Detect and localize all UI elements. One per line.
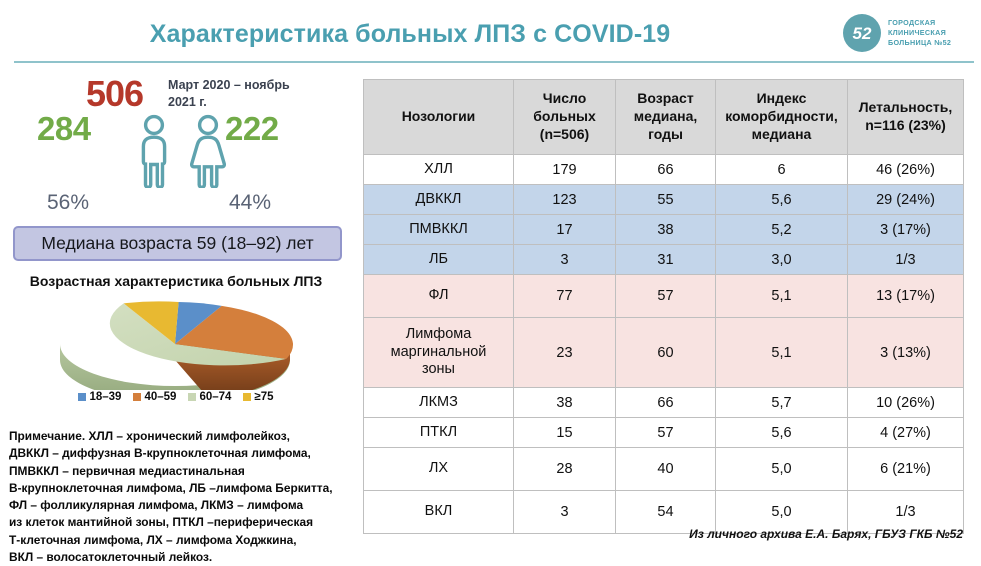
legend-label-0: 18–39 xyxy=(89,391,121,403)
cell-lethality: 3 (13%) xyxy=(848,318,964,388)
table-row: Лимфома маргинальной зоны23605,13 (13%) xyxy=(364,318,964,388)
logo-badge-icon: 52 xyxy=(843,14,881,52)
nosology-table-container: Нозологии Число больных (n=506) Возраст … xyxy=(363,79,963,534)
female-figure-icon xyxy=(183,114,233,193)
cell-comorbidity: 5,7 xyxy=(716,388,848,418)
cell-nosology: ФЛ xyxy=(364,275,514,318)
cell-count: 28 xyxy=(514,448,616,491)
cell-nosology: ЛБ xyxy=(364,245,514,275)
total-patients-value: 506 xyxy=(86,73,143,115)
cell-count: 179 xyxy=(514,155,616,185)
male-figure-icon xyxy=(132,114,176,193)
cell-age-median: 66 xyxy=(616,388,716,418)
table-row: ЛКМЗ38665,710 (26%) xyxy=(364,388,964,418)
cell-lethality: 4 (27%) xyxy=(848,418,964,448)
cell-lethality: 29 (24%) xyxy=(848,185,964,215)
cell-comorbidity: 5,6 xyxy=(716,418,848,448)
legend-label-3: ≥75 xyxy=(254,391,273,403)
column-header-comorbidity: Индекс коморбидности, медиана xyxy=(716,80,848,155)
cell-lethality: 10 (26%) xyxy=(848,388,964,418)
cell-count: 3 xyxy=(514,245,616,275)
abbreviations-note: Примечание. ХЛЛ – хронический лимфолейко… xyxy=(9,428,349,566)
legend-item-40-59: 40–59 xyxy=(133,391,176,403)
cell-nosology: Лимфома маргинальной зоны xyxy=(364,318,514,388)
cell-count: 77 xyxy=(514,275,616,318)
cell-count: 15 xyxy=(514,418,616,448)
cell-count: 23 xyxy=(514,318,616,388)
cell-comorbidity: 6 xyxy=(716,155,848,185)
pie-chart-title: Возрастная характеристика больных ЛПЗ xyxy=(0,273,352,289)
logo-text: ГОРОДСКАЯ КЛИНИЧЕСКАЯ БОЛЬНИЦА №52 xyxy=(888,18,951,49)
table-row: ПТКЛ15575,64 (27%) xyxy=(364,418,964,448)
cell-comorbidity: 5,1 xyxy=(716,275,848,318)
cell-nosology: ПМВККЛ xyxy=(364,215,514,245)
legend-item-75-plus: ≥75 xyxy=(243,391,273,403)
legend-swatch-icon xyxy=(133,393,141,401)
cell-comorbidity: 5,6 xyxy=(716,185,848,215)
table-row: ФЛ77575,113 (17%) xyxy=(364,275,964,318)
cell-count: 123 xyxy=(514,185,616,215)
logo-text-line-3: БОЛЬНИЦА №52 xyxy=(888,38,951,48)
legend-item-60-74: 60–74 xyxy=(188,391,231,403)
column-header-age-median: Возраст медиана, годы xyxy=(616,80,716,155)
median-age-box: Медиана возраста 59 (18–92) лет xyxy=(13,226,342,261)
nosology-table: Нозологии Число больных (n=506) Возраст … xyxy=(363,79,964,534)
cell-comorbidity: 3,0 xyxy=(716,245,848,275)
cell-age-median: 57 xyxy=(616,418,716,448)
female-percent-value: 44% xyxy=(229,191,271,215)
slide-header: Характеристика больных ЛПЗ с COVID-19 52… xyxy=(0,0,981,63)
legend-swatch-icon xyxy=(243,393,251,401)
age-distribution-pie-chart xyxy=(55,298,295,390)
cell-nosology: ПТКЛ xyxy=(364,418,514,448)
legend-label-2: 60–74 xyxy=(199,391,231,403)
cell-age-median: 66 xyxy=(616,155,716,185)
table-row: ЛХ28405,06 (21%) xyxy=(364,448,964,491)
left-summary-panel: 506 Март 2020 – ноябрь 2021 г. 284 222 5… xyxy=(0,66,352,563)
table-row: ЛБ3313,01/3 xyxy=(364,245,964,275)
study-period-label: Март 2020 – ноябрь 2021 г. xyxy=(168,77,298,110)
cell-count: 17 xyxy=(514,215,616,245)
legend-item-18-39: 18–39 xyxy=(78,391,121,403)
cell-age-median: 38 xyxy=(616,215,716,245)
cell-age-median: 55 xyxy=(616,185,716,215)
cell-lethality: 6 (21%) xyxy=(848,448,964,491)
male-percent-value: 56% xyxy=(47,191,89,215)
logo-text-line-1: ГОРОДСКАЯ xyxy=(888,18,951,28)
column-header-count: Число больных (n=506) xyxy=(514,80,616,155)
page-title: Характеристика больных ЛПЗ с COVID-19 xyxy=(0,20,820,49)
cell-nosology: ВКЛ xyxy=(364,491,514,534)
table-head: Нозологии Число больных (n=506) Возраст … xyxy=(364,80,964,155)
cell-nosology: ЛКМЗ xyxy=(364,388,514,418)
cell-age-median: 31 xyxy=(616,245,716,275)
column-header-lethality: Летальность, n=116 (23%) xyxy=(848,80,964,155)
table-row: ПМВККЛ17385,23 (17%) xyxy=(364,215,964,245)
table-body: ХЛЛ17966646 (26%)ДВККЛ123555,629 (24%)ПМ… xyxy=(364,155,964,534)
table-row: ДВККЛ123555,629 (24%) xyxy=(364,185,964,215)
pie-chart-legend: 18–39 40–59 60–74 ≥75 xyxy=(0,391,352,403)
cell-age-median: 57 xyxy=(616,275,716,318)
cell-comorbidity: 5,2 xyxy=(716,215,848,245)
logo-text-line-2: КЛИНИЧЕСКАЯ xyxy=(888,28,951,38)
cell-lethality: 1/3 xyxy=(848,245,964,275)
male-count-value: 284 xyxy=(37,110,91,148)
cell-lethality: 13 (17%) xyxy=(848,275,964,318)
cell-lethality: 3 (17%) xyxy=(848,215,964,245)
source-attribution: Из личного архива Е.А. Барях, ГБУЗ ГКБ №… xyxy=(593,527,963,541)
legend-swatch-icon xyxy=(188,393,196,401)
table-header-row: Нозологии Число больных (n=506) Возраст … xyxy=(364,80,964,155)
cell-nosology: ХЛЛ xyxy=(364,155,514,185)
cell-count: 38 xyxy=(514,388,616,418)
legend-label-1: 40–59 xyxy=(144,391,176,403)
cell-nosology: ДВККЛ xyxy=(364,185,514,215)
cell-nosology: ЛХ xyxy=(364,448,514,491)
cell-age-median: 60 xyxy=(616,318,716,388)
column-header-nosology: Нозологии xyxy=(364,80,514,155)
header-divider xyxy=(14,61,974,63)
female-count-value: 222 xyxy=(225,110,279,148)
legend-swatch-icon xyxy=(78,393,86,401)
cell-comorbidity: 5,1 xyxy=(716,318,848,388)
cell-lethality: 46 (26%) xyxy=(848,155,964,185)
median-age-label: Медиана возраста 59 (18–92) лет xyxy=(41,233,313,254)
hospital-logo: 52 ГОРОДСКАЯ КЛИНИЧЕСКАЯ БОЛЬНИЦА №52 xyxy=(843,13,973,53)
table-row: ХЛЛ17966646 (26%) xyxy=(364,155,964,185)
cell-comorbidity: 5,0 xyxy=(716,448,848,491)
cell-age-median: 40 xyxy=(616,448,716,491)
svg-text:52: 52 xyxy=(853,24,872,43)
